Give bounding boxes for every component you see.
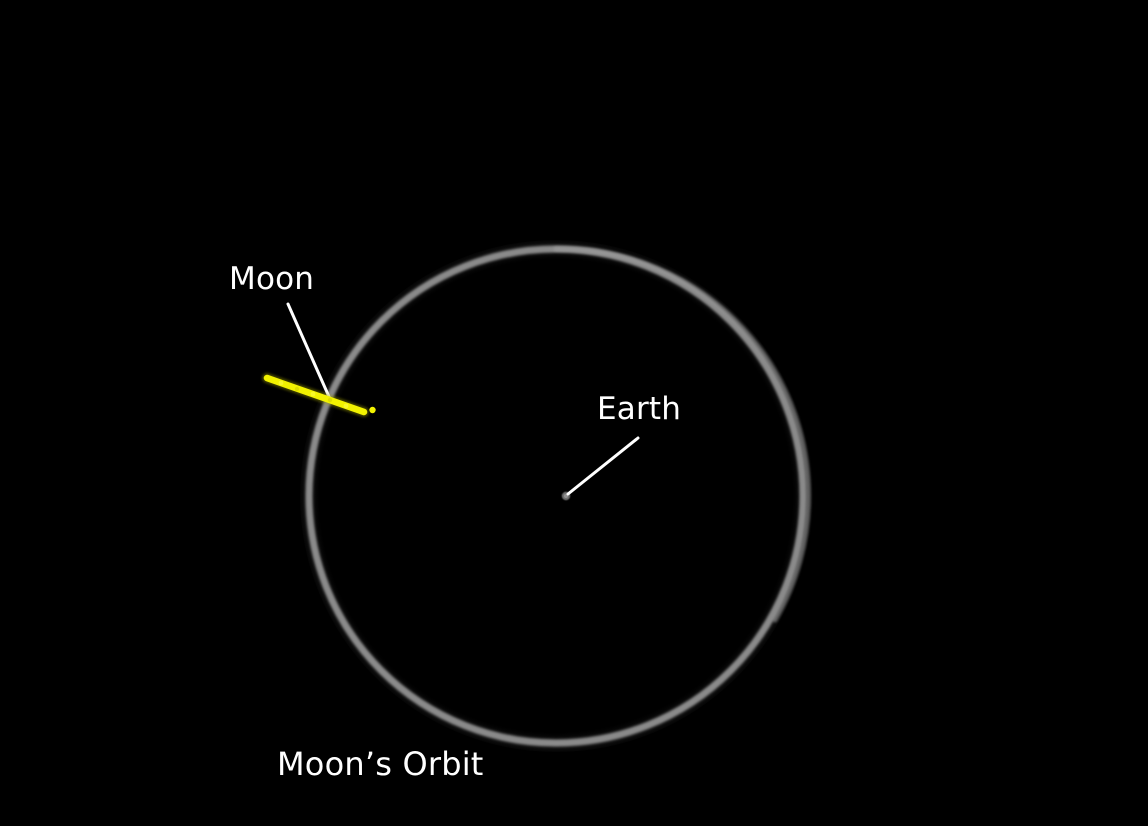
earth-label: Earth [597, 394, 681, 425]
orbit-diagram [0, 0, 1148, 826]
moons-orbit-label: Moon’s Orbit [277, 748, 484, 780]
moon-label: Moon [229, 264, 314, 295]
uncertainty-outlier-dot [369, 407, 375, 413]
plot-canvas: Position Uncertainty in 2032 as of 2025-… [0, 0, 1148, 826]
